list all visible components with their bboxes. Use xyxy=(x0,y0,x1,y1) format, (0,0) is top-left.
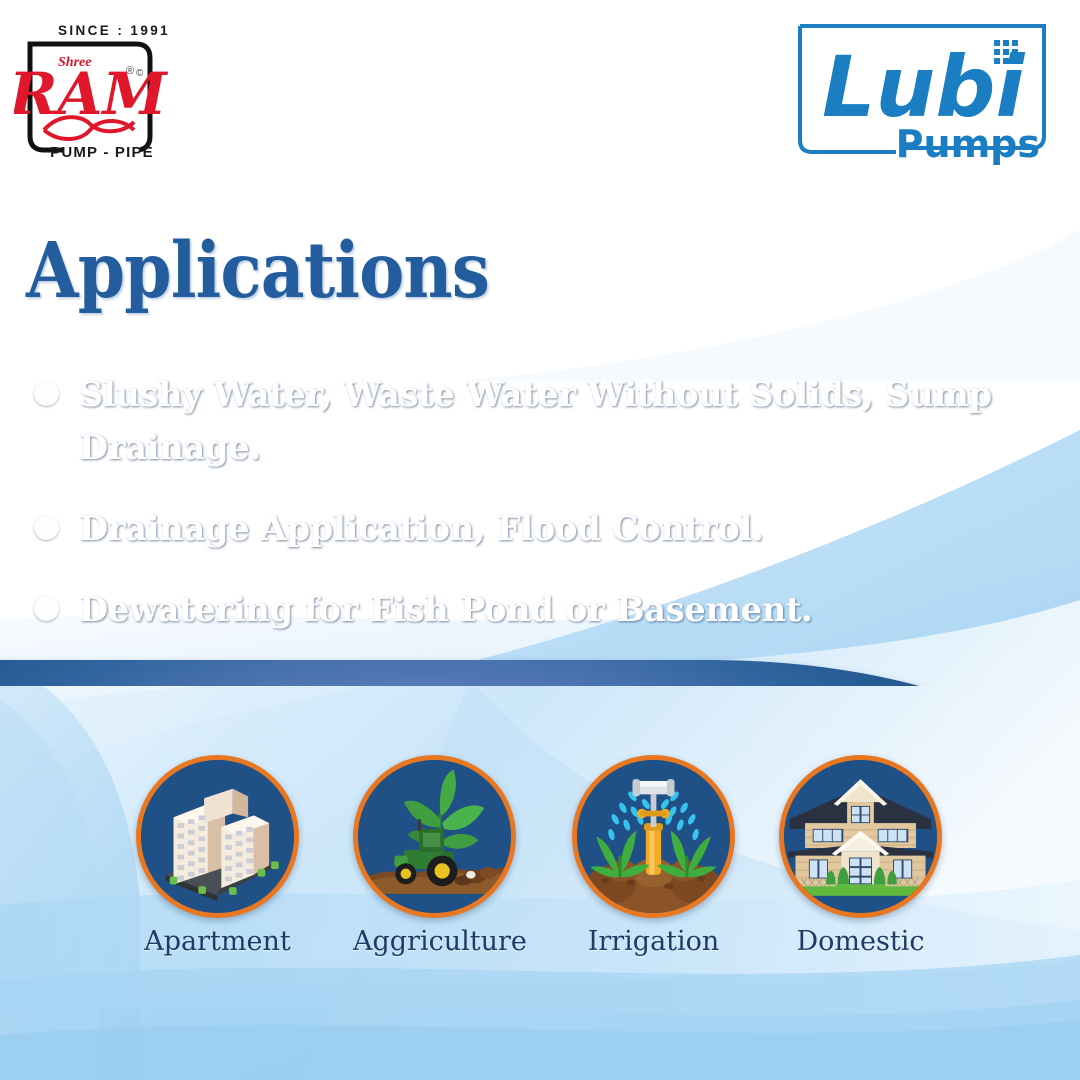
page-title: Applications xyxy=(26,231,489,311)
ram-logo-trademark-r: ® xyxy=(126,65,134,77)
sprinkler-icon xyxy=(572,755,735,918)
apartment-buildings-icon xyxy=(136,755,299,918)
ram-logo-since-text: SINCE : 1991 xyxy=(58,23,170,38)
poster-canvas: SINCE : 1991 Shree RAM ® © PUMP - PIPE xyxy=(0,0,1080,1080)
shree-ram-logo: SINCE : 1991 Shree RAM ® © PUMP - PIPE xyxy=(14,18,214,168)
lubi-pumps-logo: Lubi Pumps xyxy=(788,18,1056,170)
house-icon xyxy=(779,755,942,918)
bullet-text: Slushy Water, Waste Water Without Solids… xyxy=(79,368,1014,474)
bullet-circle-icon xyxy=(34,515,59,540)
applications-bullet-list: Slushy Water, Waste Water Without Solids… xyxy=(0,330,1080,686)
bullet-text: Drainage Application, Flood Control. xyxy=(79,502,764,555)
tractor-plant-icon xyxy=(353,755,516,918)
bullet-circle-icon xyxy=(34,596,59,621)
bullet-item: Drainage Application, Flood Control. xyxy=(0,502,1080,555)
application-item-irrigation[interactable]: Irrigation xyxy=(572,755,735,957)
ram-logo-ram-text: RAM xyxy=(14,60,168,128)
application-label: Aggriculture xyxy=(353,926,527,957)
application-label: Domestic xyxy=(779,926,942,957)
application-item-aggriculture[interactable]: Aggriculture xyxy=(353,755,527,957)
bullet-item: Dewatering for Fish Pond or Basement. xyxy=(0,583,1080,636)
application-label: Irrigation xyxy=(572,926,735,957)
ram-logo-trademark-c: © xyxy=(136,68,144,79)
bullet-item: Slushy Water, Waste Water Without Solids… xyxy=(0,368,1080,474)
bullet-circle-icon xyxy=(34,381,59,406)
application-icon-strip: Apartment xyxy=(0,755,1080,1005)
lubi-logo-submark: Pumps xyxy=(896,122,1040,166)
bullet-text: Dewatering for Fish Pond or Basement. xyxy=(79,583,813,636)
ram-logo-footer-text: PUMP - PIPE xyxy=(50,144,154,161)
application-item-apartment[interactable]: Apartment xyxy=(136,755,299,957)
application-item-domestic[interactable]: Domestic xyxy=(779,755,942,957)
application-label: Apartment xyxy=(136,926,299,957)
